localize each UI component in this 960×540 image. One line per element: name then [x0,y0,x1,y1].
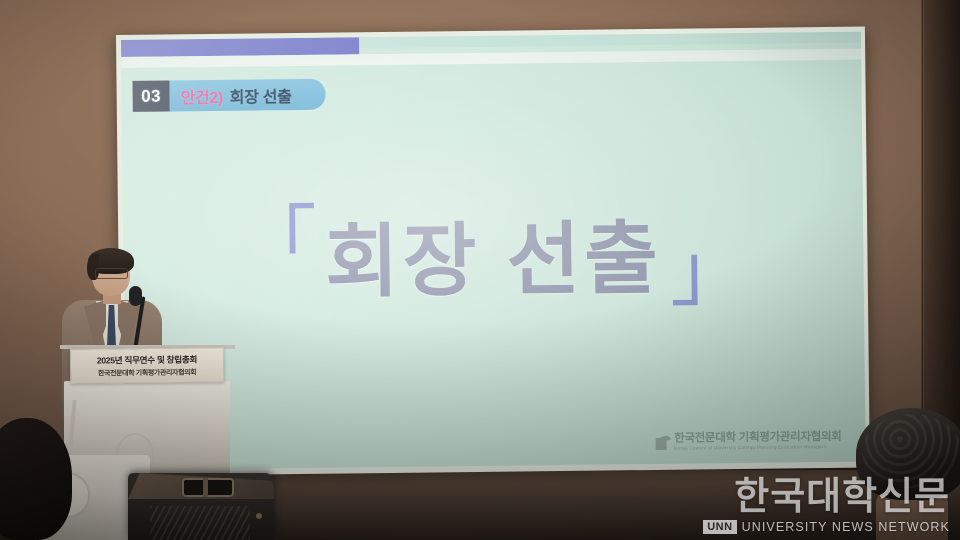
slide-main-title-block: 「 회장 선출 」 [123,192,864,316]
monitor-handle [182,478,234,497]
slide-footer-logo: 한국전문대학 기획평가관리자협의회 Korea Council of Unive… [655,432,842,452]
bracket-close-icon: 」 [670,236,749,307]
podium-sign-line2: 한국전문대학 기획평가관리자협의회 [98,367,196,378]
slide-section-number: 03 [132,80,169,111]
slide-header: 03 안건2) 회장 선출 [132,79,325,112]
glasses-icon [95,268,128,279]
podium-sign: 2025년 직무연수 및 창립총회 한국전문대학 기획평가관리자협의회 [70,347,224,384]
building-logo-icon [655,435,669,450]
slide-agenda-tag: 안건2) [181,83,223,107]
slide-header-title: 회장 선출 [230,83,292,108]
podium: 2025년 직무연수 및 창립총회 한국전문대학 기획평가관리자협의회 [60,345,235,473]
audience-hair [856,408,960,500]
monitor-knob [256,513,262,519]
stage-monitor-speaker [128,473,274,540]
podium-sign-line1: 2025년 직무연수 및 창립총회 [97,353,197,366]
logo-english-name: Korea Council of University College Plan… [674,445,841,451]
slide-main-title: 회장 선출 [324,194,662,314]
monitor-grill [150,506,250,540]
slide-header-pill: 안건2) 회장 선출 [169,79,325,112]
microphone-icon [129,286,142,306]
logo-korean-name: 한국전문대학 기획평가관리자협의회 [674,432,841,445]
conference-hall-photo: 03 안건2) 회장 선출 「 회장 선출 」 한국전문대학 기획평가관리자협의… [0,0,960,540]
bracket-open-icon: 「 [239,207,318,278]
audience-head-right [856,408,960,540]
